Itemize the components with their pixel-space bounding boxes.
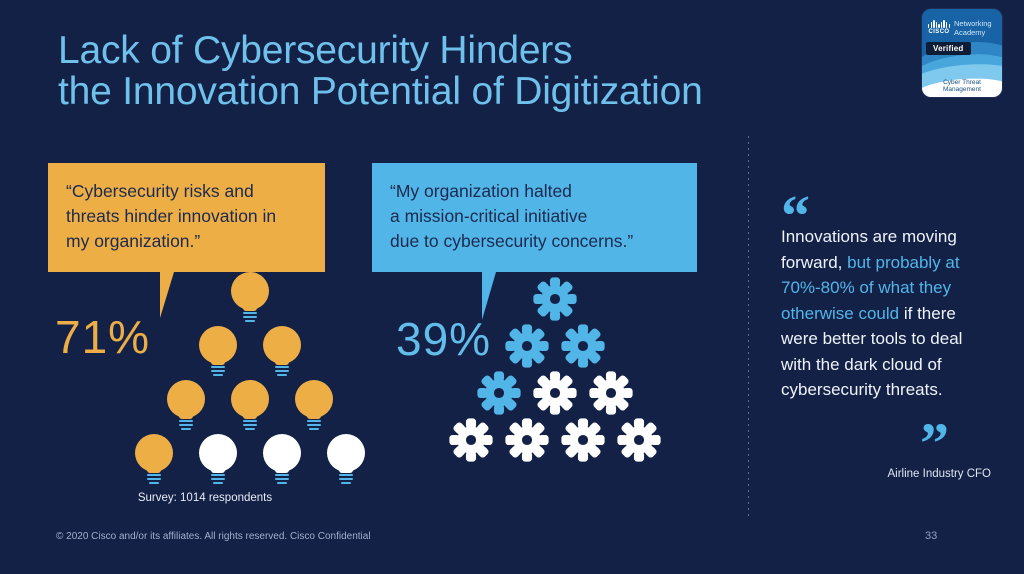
lightbulb-icon [224,380,276,432]
callout-bubble-lightbulb: “Cybersecurity risks and threats hinder … [48,163,325,272]
callout-text-lightbulb: “Cybersecurity risks and threats hinder … [66,179,307,254]
lightbulb-icon [160,380,212,432]
cisco-bars-icon [928,20,950,28]
badge-course-text: Cyber Threat Management [943,79,981,94]
page-title-line2: the Innovation Potential of Digitization [58,71,818,112]
lightbulb-icon [256,326,308,378]
badge-course-line1: Cyber Threat [943,79,981,86]
lightbulb-icon [288,380,340,432]
badge-program-line2: Academy [954,28,992,37]
page-number: 33 [925,530,937,542]
gear-icon [560,323,606,369]
pictogram-row [224,272,276,324]
gear-icon [532,276,578,322]
lightbulb-icon [128,434,180,486]
pictogram-row [128,434,372,486]
page-title: Lack of Cybersecurity Hinders the Innova… [58,30,818,112]
lightbulb-icon [256,434,308,486]
gear-icon [504,323,550,369]
slide-canvas: Lack of Cybersecurity Hinders the Innova… [0,0,1024,574]
gear-icon [476,370,522,416]
gear-icon [588,370,634,416]
vertical-divider [748,136,749,518]
badge-course-name: Cyber Threat Management [922,75,1002,97]
gear-icon [616,417,662,463]
copyright-notice: © 2020 Cisco and/or its affiliates. All … [56,531,371,542]
cisco-logo-icon: CISCO [928,20,950,35]
pictogram-row [192,326,308,378]
pictogram-row [532,276,578,322]
lightbulb-icon [192,434,244,486]
badge-program-name: Networking Academy [954,19,992,37]
pictogram-row [476,370,634,416]
pictogram-row [504,323,606,369]
page-title-line1: Lack of Cybersecurity Hinders [58,29,572,72]
callout-bubble-gear: “My organization halted a mission-critic… [372,163,697,272]
pull-quote-text: Innovations are moving forward, but prob… [781,224,991,403]
gear-icon [532,370,578,416]
pictogram-row [160,380,340,432]
gear-icon [504,417,550,463]
quote-close-icon: ” [920,424,947,464]
lightbulb-icon [224,272,276,324]
pictogram-lightbulbs [128,272,372,488]
pictogram-gears [448,276,662,464]
badge-header: CISCO Networking Academy [922,9,1002,41]
callout-text-gear: “My organization halted a mission-critic… [390,179,679,254]
gear-icon [448,417,494,463]
gear-icon [560,417,606,463]
pictogram-row [448,417,662,463]
cisco-wordmark: CISCO [929,29,950,35]
badge-verified-label: Verified [926,42,971,55]
badge-program-line1: Networking [954,19,992,28]
quote-attribution: Airline Industry CFO [781,468,991,480]
badge-course-line2: Management [943,86,981,93]
survey-note: Survey: 1014 respondents [40,492,370,504]
lightbulb-icon [320,434,372,486]
cisco-networking-academy-badge: CISCO Networking Academy Verified Cyber … [922,9,1002,97]
lightbulb-icon [192,326,244,378]
